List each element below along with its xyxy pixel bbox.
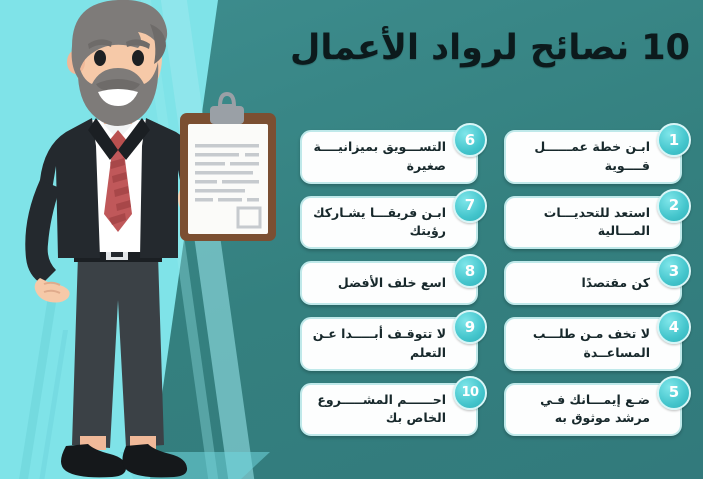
tip-number-badge: 2 <box>657 189 691 223</box>
tip-text: لا تخف مـن طلـــب المساعــدة <box>516 325 650 363</box>
tip-card[interactable]: 9 لا تتوقـف أبـــــدا عـن التعلم <box>300 317 478 371</box>
tips-column-left: 6 التســـويق بميزانيــــة صغيرة 7 ابـن ف… <box>300 130 478 436</box>
page-title: 10 نصائح لرواد الأعمال <box>250 28 690 68</box>
tip-text: احــــــم المشـــــروع الخاص بك <box>312 391 446 429</box>
tip-text: اسع خلف الأفضل <box>312 274 446 293</box>
businessman-illustration <box>0 0 290 479</box>
infographic-canvas: 10 نصائح لرواد الأعمال 1 ابـن خطة عمــــ… <box>0 0 720 479</box>
tip-number-badge: 7 <box>453 189 487 223</box>
tip-text: لا تتوقـف أبـــــدا عـن التعلم <box>312 325 446 363</box>
tip-number-badge: 3 <box>657 254 691 288</box>
tip-number-badge: 8 <box>453 254 487 288</box>
tip-card[interactable]: 3 كن مقتصدًا <box>504 261 682 305</box>
tip-card[interactable]: 2 استعد للتحديـــات المـــالية <box>504 196 682 250</box>
tips-column-right: 1 ابـن خطة عمــــــل قــــوية 2 استعد لل… <box>504 130 682 436</box>
tip-text: ضـع إيمـــانك فـي مرشد موثوق به <box>516 391 650 429</box>
tip-number-badge: 5 <box>657 376 691 410</box>
tip-card[interactable]: 8 اسع خلف الأفضل <box>300 261 478 305</box>
tip-text: ابـن خطة عمــــــل قــــوية <box>516 138 650 176</box>
tip-card[interactable]: 6 التســـويق بميزانيــــة صغيرة <box>300 130 478 184</box>
tip-text: كن مقتصدًا <box>516 274 650 293</box>
tip-text: التســـويق بميزانيــــة صغيرة <box>312 138 446 176</box>
tip-card[interactable]: 5 ضـع إيمـــانك فـي مرشد موثوق به <box>504 383 682 437</box>
tip-text: ابـن فريقـــا يشـاركك رؤيتك <box>312 204 446 242</box>
tip-card[interactable]: 7 ابـن فريقـــا يشـاركك رؤيتك <box>300 196 478 250</box>
tip-card[interactable]: 10 احــــــم المشـــــروع الخاص بك <box>300 383 478 437</box>
tip-card[interactable]: 4 لا تخف مـن طلـــب المساعــدة <box>504 317 682 371</box>
tip-number-badge: 1 <box>657 123 691 157</box>
tip-number-badge: 4 <box>657 310 691 344</box>
tip-number-badge: 10 <box>453 376 487 410</box>
tip-number-badge: 9 <box>453 310 487 344</box>
tip-text: استعد للتحديـــات المـــالية <box>516 204 650 242</box>
tip-card[interactable]: 1 ابـن خطة عمــــــل قــــوية <box>504 130 682 184</box>
tip-number-badge: 6 <box>453 123 487 157</box>
